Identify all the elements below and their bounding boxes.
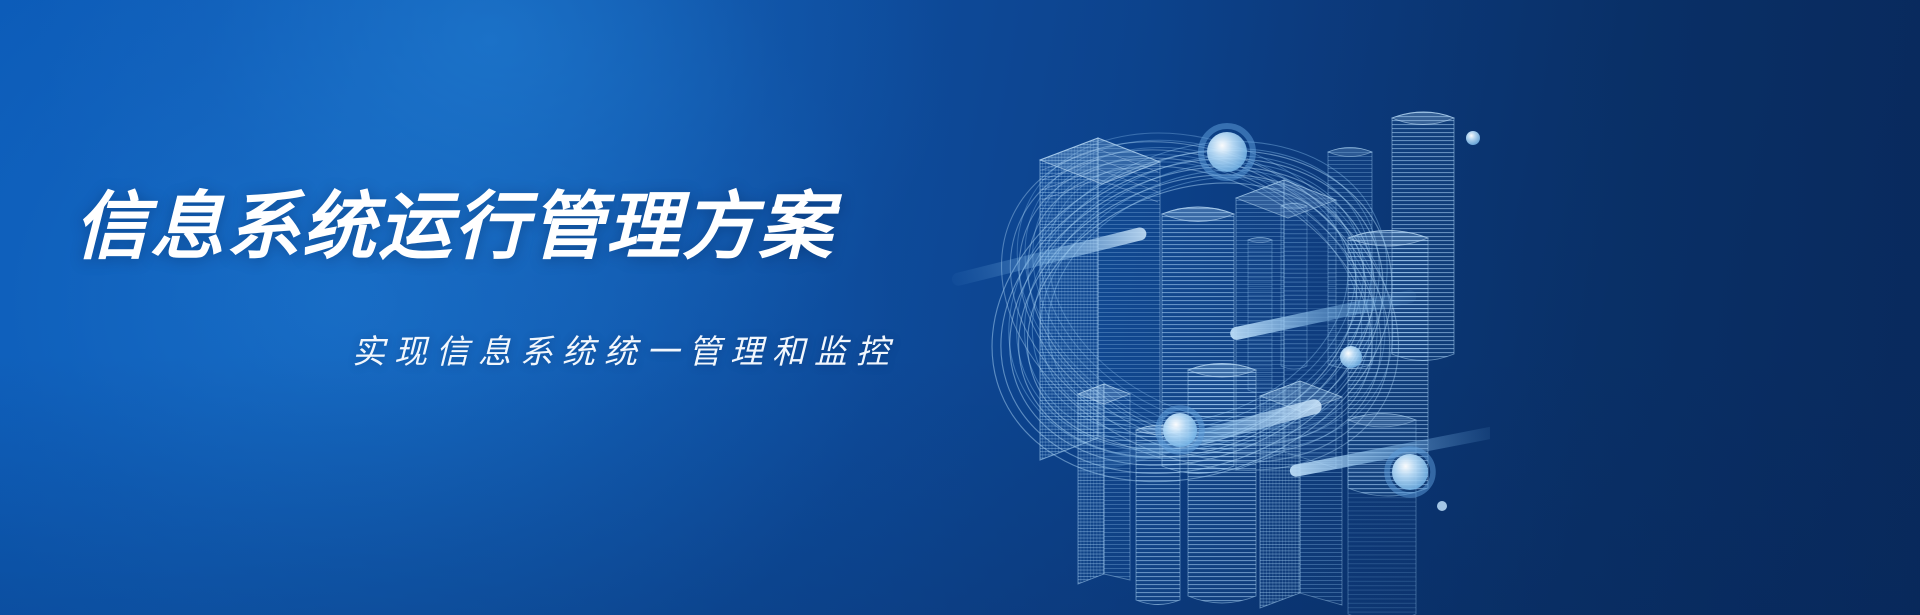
glow-dot-left (1158, 408, 1202, 452)
glow-dot-bottom (1387, 449, 1433, 495)
glow-dot-top (1201, 126, 1253, 178)
tower-front-1 (1078, 384, 1130, 584)
wireframe-city-illustration (930, 0, 1490, 615)
glow-dot-small-right (1340, 346, 1362, 368)
banner-root: 信息系统运行管理方案 实现信息系统统一管理和监控 (0, 0, 1920, 615)
banner-text-block: 信息系统运行管理方案 实现信息系统统一管理和监控 (0, 0, 930, 615)
banner-title: 信息系统运行管理方案 (74, 186, 834, 269)
glow-dot-tiny-a (1437, 501, 1447, 511)
glow-dot-small-topright (1466, 131, 1480, 145)
tower-front-3 (1188, 364, 1256, 604)
banner-subtitle: 实现信息系统统一管理和监控 (74, 332, 898, 372)
